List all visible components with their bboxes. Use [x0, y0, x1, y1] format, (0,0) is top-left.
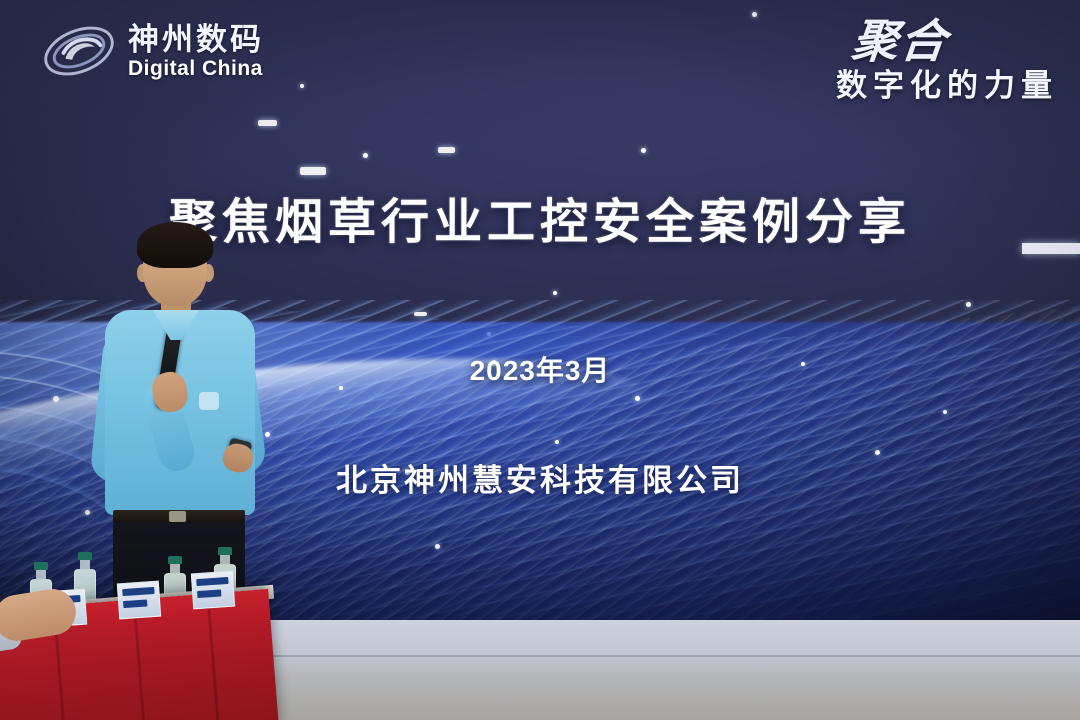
particle-dash	[300, 167, 326, 175]
slogan-sub: 数字化的力量	[836, 70, 1058, 101]
particle-dash	[258, 120, 277, 126]
conference-photo: 神州数码 Digital China 聚合 数字化的力量 聚焦烟草行业工控安全案…	[0, 0, 1080, 720]
particle-dash	[438, 147, 455, 153]
event-slogan: 聚合 数字化的力量	[836, 18, 1058, 101]
brand-name-en: Digital China	[128, 58, 264, 79]
speaker-shirt-badge	[199, 392, 219, 410]
particle-dot	[363, 153, 368, 158]
particle-dot	[553, 291, 557, 295]
speaker-hair	[137, 222, 213, 268]
slogan-main: 聚合	[834, 18, 951, 64]
name-card	[117, 581, 161, 620]
brand-logo: 神州数码 Digital China	[40, 20, 264, 82]
particle-dot	[641, 148, 646, 153]
name-card	[191, 571, 235, 610]
speaker-belt-buckle	[169, 511, 186, 522]
brand-name-cn: 神州数码	[128, 24, 264, 55]
swirl-logo-icon	[40, 20, 118, 82]
particle-dot	[752, 12, 757, 17]
particle-dot	[300, 84, 304, 88]
brand-logo-text: 神州数码 Digital China	[128, 24, 264, 79]
